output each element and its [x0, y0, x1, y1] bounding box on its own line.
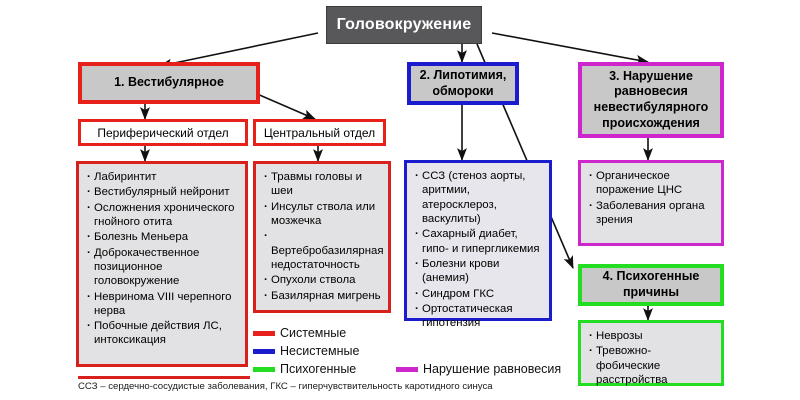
list-item: Тревожно-фобические расстройства — [588, 344, 715, 387]
list-item: Базилярная мигрень — [263, 289, 382, 303]
peripheral-causes-list: Лабиринтит Вестибулярный нейронит Осложн… — [86, 170, 239, 348]
list-item: Сахарный диабет, гипо- и гипергликемия — [414, 227, 543, 256]
branch-header-psychogenic[interactable]: 4. Психогенные причины — [578, 264, 724, 306]
list-item: Заболевания органа зрения — [588, 199, 715, 228]
legend-column-right: Нарушение равновесия — [396, 360, 561, 378]
subbox-central[interactable]: Центральный отдел — [253, 119, 386, 146]
panel-peripheral-causes: Лабиринтит Вестибулярный нейронит Осложн… — [76, 161, 248, 367]
panel-lipothymia-causes: ССЗ (стеноз аорты, аритмии, атеросклероз… — [404, 160, 552, 321]
root-title-box: Головокружение — [326, 6, 482, 44]
legend-swatch-nonsystemic — [253, 349, 275, 354]
footnote-abbreviations: ССЗ – сердечно-сосудистые заболевания, Г… — [78, 381, 493, 392]
subbox-peripheral[interactable]: Периферический отдел — [78, 119, 248, 146]
legend-swatch-systemic — [253, 331, 275, 336]
list-item: Органическое поражение ЦНС — [588, 169, 715, 198]
subbox-central-label: Центральный отдел — [264, 126, 375, 140]
list-item: Инсульт ствола или мозжечка — [263, 200, 382, 229]
balance-causes-list: Органическое поражение ЦНС Заболевания о… — [588, 169, 715, 227]
legend-label-nonsystemic: Несистемные — [280, 344, 359, 358]
branch-header-vestibular-label: 1. Вестибулярное — [114, 75, 224, 91]
list-item: Болезни крови (анемия) — [414, 257, 543, 286]
psychogenic-causes-list: Неврозы Тревожно-фобические расстройства — [588, 329, 715, 387]
lipothymia-causes-list: ССЗ (стеноз аорты, аритмии, атеросклероз… — [414, 169, 543, 330]
arrow-root-to-balance — [492, 33, 648, 62]
legend-item-nonsystemic: Несистемные — [253, 342, 359, 360]
list-item: Ортостатическая гипотензия — [414, 302, 543, 331]
panel-central-causes: Травмы головы и шеи Инсульт ствола или м… — [253, 161, 391, 313]
branch-header-balance-label: 3. Нарушение равновесия невестибулярного… — [594, 69, 709, 132]
central-causes-list: Травмы головы и шеи Инсульт ствола или м… — [263, 170, 382, 303]
list-item: Синдром ГКС — [414, 287, 543, 301]
legend-swatch-balance — [396, 367, 418, 372]
branch-header-vestibular[interactable]: 1. Вестибулярное — [78, 62, 260, 104]
list-item: Травмы головы и шеи — [263, 170, 382, 199]
list-item: Вестибулярный нейронит — [86, 185, 239, 199]
legend-item-psychogenic: Психогенные — [253, 360, 359, 378]
list-item: Опухоли ствола — [263, 273, 382, 287]
diagram-canvas: Головокружение 1. Вестибулярное Перифери… — [0, 0, 800, 400]
list-item: Лабиринтит — [86, 170, 239, 184]
list-item: Побочные действия ЛС, интоксикация — [86, 319, 239, 348]
legend-label-balance: Нарушение равновесия — [423, 362, 561, 376]
footnote-divider — [78, 376, 250, 379]
list-item: Неврозы — [588, 329, 715, 343]
legend-label-psychogenic: Психогенные — [280, 362, 356, 376]
legend-column-left: Системные Несистемные Психогенные — [253, 324, 359, 378]
root-title-label: Головокружение — [337, 16, 472, 34]
subbox-peripheral-label: Периферический отдел — [97, 126, 228, 140]
list-item: Осложнения хронического гнойного отита — [86, 201, 239, 230]
list-item: Доброкачественное позиционное головокруж… — [86, 246, 239, 289]
legend-swatch-psychogenic — [253, 367, 275, 372]
branch-header-lipothymia[interactable]: 2. Липотимия, обмороки — [407, 62, 519, 105]
panel-psychogenic-causes: Неврозы Тревожно-фобические расстройства — [578, 320, 724, 386]
list-item: Болезнь Меньера — [86, 230, 239, 244]
list-item: ССЗ (стеноз аорты, аритмии, атеросклероз… — [414, 169, 543, 226]
legend-item-systemic: Системные — [253, 324, 359, 342]
legend-item-balance: Нарушение равновесия — [396, 360, 561, 378]
branch-header-balance[interactable]: 3. Нарушение равновесия невестибулярного… — [578, 62, 724, 138]
legend-label-systemic: Системные — [280, 326, 346, 340]
branch-header-lipothymia-label: 2. Липотимия, обмороки — [420, 68, 507, 99]
branch-header-psychogenic-label: 4. Психогенные причины — [603, 269, 700, 300]
panel-balance-causes: Органическое поражение ЦНС Заболевания о… — [578, 160, 724, 246]
list-item: Невринома VIII черепного нерва — [86, 290, 239, 319]
list-item: Вертебробазилярная недостаточность — [263, 229, 382, 272]
